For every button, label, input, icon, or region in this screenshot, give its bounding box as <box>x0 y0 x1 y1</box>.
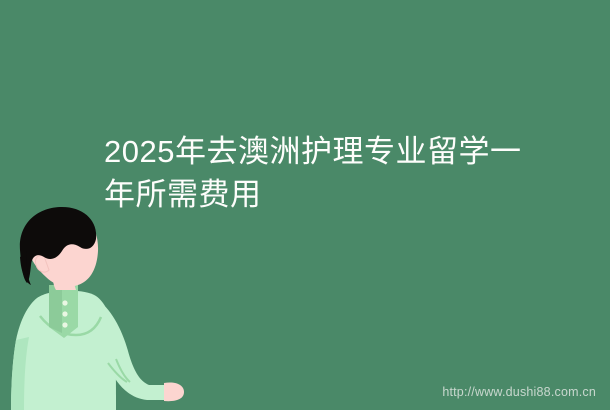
button-3 <box>62 322 67 327</box>
article-banner: 2025年去澳洲护理专业留学一 年所需费用 http://www.dushi88… <box>0 0 610 410</box>
collar-shadow <box>49 285 62 333</box>
button-2 <box>62 311 67 316</box>
hand <box>164 382 184 401</box>
title-line-1: 2025年去澳洲护理专业留学一 <box>104 130 544 173</box>
watermark-url: http://www.dushi88.com.cn <box>442 385 596 399</box>
title-line-2: 年所需费用 <box>104 173 544 216</box>
button-1 <box>62 300 67 305</box>
person-illustration <box>0 195 200 410</box>
page-title: 2025年去澳洲护理专业留学一 年所需费用 <box>104 130 544 216</box>
